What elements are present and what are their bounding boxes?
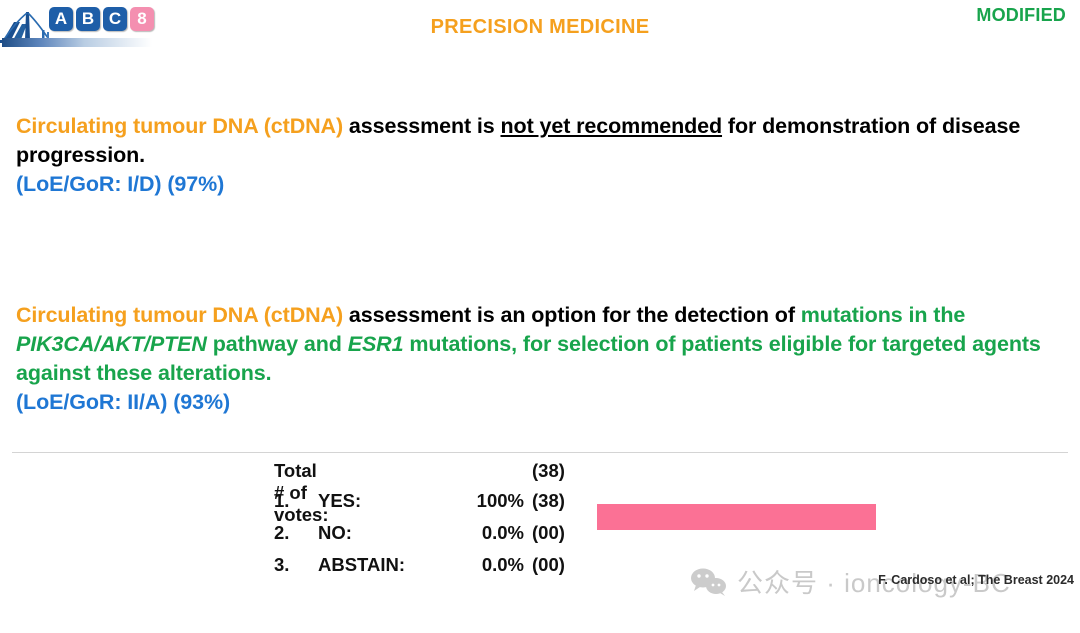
vote-bar-yes bbox=[597, 504, 876, 530]
votes-total-count: (38) bbox=[532, 460, 565, 482]
vote-row-3-option: ABSTAIN: bbox=[318, 554, 405, 576]
statement-2-text-a: assessment is an option for the detectio… bbox=[349, 303, 801, 327]
page-title: PRECISION MEDICINE bbox=[0, 16, 1080, 39]
vote-row-2-percent: 0.0% bbox=[454, 522, 524, 544]
statement-1-highlight: Circulating tumour DNA (ctDNA) bbox=[16, 114, 349, 138]
vote-row-2-count: (00) bbox=[532, 522, 565, 544]
citation: F. Cardoso et al; The Breast 2024 bbox=[878, 573, 1074, 587]
vote-row-3-index: 3. bbox=[274, 554, 289, 576]
statement-1-loe: (LoE/GoR: I/D) (97%) bbox=[16, 170, 1056, 199]
statement-2-text-c: pathway and bbox=[207, 332, 348, 356]
statement-2-gene-pathway: PIK3CA/AKT/PTEN bbox=[16, 332, 207, 356]
section-divider bbox=[12, 452, 1068, 453]
recommendation-statement-2: Circulating tumour DNA (ctDNA) assessmen… bbox=[16, 301, 1061, 417]
statement-2-gene-esr1: ESR1 bbox=[348, 332, 404, 356]
vote-row-2-option: NO: bbox=[318, 522, 352, 544]
vote-row-3-count: (00) bbox=[532, 554, 565, 576]
slide-header: A B C 8 PRECISION MEDICINE MODIFIED bbox=[0, 0, 1080, 50]
statement-2-highlight: Circulating tumour DNA (ctDNA) bbox=[16, 303, 349, 327]
logo-streak bbox=[2, 38, 152, 47]
vote-row-1-count: (38) bbox=[532, 490, 565, 512]
statement-2-text-b: mutations in the bbox=[801, 303, 965, 327]
wechat-icon bbox=[690, 567, 728, 597]
vote-row-1-percent: 100% bbox=[454, 490, 524, 512]
vote-row-1-index: 1. bbox=[274, 490, 289, 512]
status-badge: MODIFIED bbox=[976, 5, 1066, 26]
vote-row-2-index: 2. bbox=[274, 522, 289, 544]
statement-2-loe: (LoE/GoR: II/A) (93%) bbox=[16, 388, 1061, 417]
statement-1-underlined: not yet recommended bbox=[501, 114, 723, 138]
vote-row-3-percent: 0.0% bbox=[454, 554, 524, 576]
vote-row-1-option: YES: bbox=[318, 490, 361, 512]
recommendation-statement-1: Circulating tumour DNA (ctDNA) assessmen… bbox=[16, 112, 1056, 199]
statement-1-text-a: assessment is bbox=[349, 114, 501, 138]
